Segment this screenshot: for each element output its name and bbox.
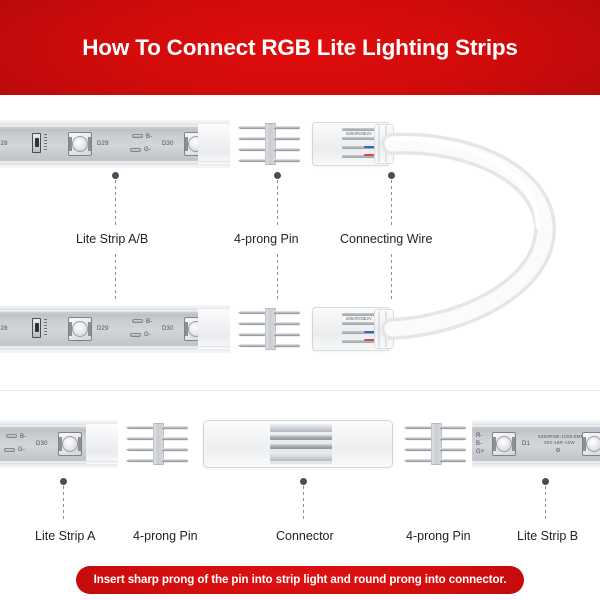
callout-dot	[60, 478, 67, 485]
callout-dot	[388, 172, 395, 179]
led-strip-top: D28 D29 B- G- D30 R-	[0, 120, 230, 168]
led-strip-a: B- G- D30 R-	[0, 420, 118, 468]
wire-strain-relief-top	[374, 124, 394, 164]
pin-round-prong	[274, 148, 300, 151]
strip-silk-label: D29	[97, 141, 109, 147]
callout-leader-line	[391, 180, 392, 225]
strip-edge	[0, 120, 230, 124]
connector-print-text: 5050RGB	[346, 131, 365, 136]
callout-label-four-prong-pin: 4-prong Pin	[234, 232, 299, 246]
infographic-page: How To Connect RGB Lite Lighting Strips …	[0, 0, 600, 600]
led-pad	[493, 437, 496, 451]
connector-print-text: 5050RGB	[346, 316, 365, 321]
connector-slot	[342, 137, 378, 140]
pin-sharp-prong	[404, 437, 433, 440]
led-chip	[68, 132, 92, 156]
strip-edge	[472, 464, 600, 468]
strip-edge	[0, 164, 230, 168]
callout-leader-line	[303, 486, 304, 522]
strip-terminal-label: G-	[144, 332, 151, 338]
strip-solder-pad	[132, 319, 143, 323]
strip-solder-pad	[4, 448, 15, 452]
strip-terminal-label: B-	[476, 441, 482, 447]
pin-sharp-prong	[238, 137, 267, 140]
callout-label-connector: Connector	[276, 529, 334, 543]
led-pad	[59, 437, 62, 451]
strip-cut-end	[198, 124, 230, 164]
led-pad	[69, 322, 72, 336]
callout-label-pin-left: 4-prong Pin	[133, 529, 198, 543]
connector-clip	[270, 454, 332, 461]
pin-sharp-prong	[238, 344, 267, 347]
pin-sharp-prong	[238, 126, 267, 129]
section-divider	[0, 390, 600, 391]
strip-silk-label: D30	[162, 326, 174, 332]
pin-round-prong	[274, 126, 300, 129]
led-pad	[583, 437, 586, 451]
pin-sharp-prong	[126, 459, 155, 462]
strip-terminal-label: G+	[476, 449, 485, 455]
pin-round-prong	[162, 448, 188, 451]
pin-sharp-prong	[126, 448, 155, 451]
callout-label-pin-right: 4-prong Pin	[406, 529, 471, 543]
led-strip-b: R- B- G+ D1 5050RGB-1000-8MM 300-18R-12W	[472, 420, 600, 468]
collar-ring	[378, 311, 381, 347]
led-strip-top-second: D28 D29 B- G- D30 R-	[0, 305, 230, 353]
pin-round-prong	[274, 344, 300, 347]
four-prong-pin-top-second	[238, 308, 300, 350]
pin-round-prong	[274, 311, 300, 314]
pin-sharp-prong	[238, 333, 267, 336]
resistor-component	[32, 133, 41, 153]
pin-round-prong	[440, 448, 466, 451]
strip-cut-end	[86, 424, 118, 464]
callout-dot	[542, 478, 549, 485]
pin-sharp-prong	[126, 437, 155, 440]
led-chip	[582, 432, 600, 456]
pin-round-prong	[274, 137, 300, 140]
four-prong-pin-left	[126, 423, 188, 465]
connector-print-text: 12V	[364, 316, 372, 321]
strip-solder-pad	[132, 134, 143, 138]
callout-dot	[300, 478, 307, 485]
led-pad	[69, 137, 72, 151]
callout-leader-line	[277, 180, 278, 225]
connector-print-text: 12V	[364, 131, 372, 136]
strip-terminal-label: B-	[146, 134, 152, 140]
strip-silk-label: D30	[162, 141, 174, 147]
strip-terminal-label: G-	[144, 147, 151, 153]
pin-sharp-prong	[238, 322, 267, 325]
led-pad	[185, 322, 188, 336]
footer-area: Insert sharp prong of the pin into strip…	[0, 560, 600, 600]
strip-terminal-label: B-	[20, 434, 26, 440]
callout-leader-line	[115, 180, 116, 225]
connector-slot	[342, 322, 378, 325]
resistor-component	[32, 318, 41, 338]
strip-terminal-label: B-	[146, 319, 152, 325]
callout-dot	[274, 172, 281, 179]
connector-contact-bar	[270, 444, 332, 449]
wire-strain-relief-bottom	[374, 309, 394, 349]
led-chip	[492, 432, 516, 456]
strip-solder-pad	[130, 148, 141, 152]
strip-solder-pad	[556, 448, 560, 452]
four-prong-pin-top	[238, 123, 300, 165]
led-pad	[78, 437, 81, 451]
pin-round-prong	[440, 437, 466, 440]
pin-round-prong	[162, 437, 188, 440]
pin-sharp-prong	[404, 448, 433, 451]
callout-leader-line	[63, 486, 64, 522]
connector-clip	[270, 425, 332, 432]
collar-ring	[385, 126, 388, 162]
pin-sharp-prong	[126, 426, 155, 429]
callout-leader-line	[277, 254, 278, 299]
pin-round-prong	[162, 426, 188, 429]
resistor-trace	[44, 319, 47, 337]
pin-sharp-prong	[238, 148, 267, 151]
led-chip	[68, 317, 92, 341]
strip-silk-label: D29	[97, 326, 109, 332]
led-pad	[88, 322, 91, 336]
callout-leader-line	[545, 486, 546, 522]
center-connector	[203, 420, 393, 468]
header-banner: How To Connect RGB Lite Lighting Strips	[0, 0, 600, 95]
callout-dot	[112, 172, 119, 179]
strip-silk-label: D28	[0, 326, 8, 332]
strip-cut-end	[198, 309, 230, 349]
callout-label-connecting-wire: Connecting Wire	[340, 232, 432, 246]
pin-sharp-prong	[404, 459, 433, 462]
callout-label-lite-strip-ab: Lite Strip A/B	[76, 232, 148, 246]
pin-sharp-prong	[238, 311, 267, 314]
connector-contact-bar	[270, 435, 332, 440]
pin-round-prong	[274, 322, 300, 325]
callout-leader-line	[391, 254, 392, 299]
led-pad	[512, 437, 515, 451]
strip-silk-label: D1	[522, 441, 530, 447]
strip-edge	[0, 349, 230, 353]
callout-leader-line	[115, 254, 116, 299]
callout-label-lite-strip-b: Lite Strip B	[517, 529, 578, 543]
four-prong-pin-right	[404, 423, 466, 465]
page-title: How To Connect RGB Lite Lighting Strips	[82, 35, 518, 61]
callout-label-lite-strip-a: Lite Strip A	[35, 529, 95, 543]
pin-round-prong	[162, 459, 188, 462]
resistor-trace	[44, 134, 47, 152]
strip-print-line2: 300-18R-12W	[544, 440, 575, 446]
strip-solder-pad	[6, 434, 17, 438]
strip-silk-label: D28	[0, 141, 8, 147]
strip-edge	[472, 420, 600, 424]
instruction-note: Insert sharp prong of the pin into strip…	[76, 566, 525, 594]
pin-round-prong	[440, 426, 466, 429]
collar-ring	[385, 311, 388, 347]
strip-solder-pad	[130, 333, 141, 337]
pin-sharp-prong	[238, 159, 267, 162]
led-pad	[88, 137, 91, 151]
strip-edge	[0, 305, 230, 309]
pin-round-prong	[274, 159, 300, 162]
collar-ring	[378, 126, 381, 162]
led-pad	[185, 137, 188, 151]
led-chip	[58, 432, 82, 456]
strip-terminal-label: R-	[476, 433, 483, 439]
pin-round-prong	[440, 459, 466, 462]
strip-terminal-label: G-	[18, 447, 25, 453]
pin-round-prong	[274, 333, 300, 336]
pin-sharp-prong	[404, 426, 433, 429]
strip-edge	[0, 464, 118, 468]
strip-silk-label: D30	[36, 441, 48, 447]
